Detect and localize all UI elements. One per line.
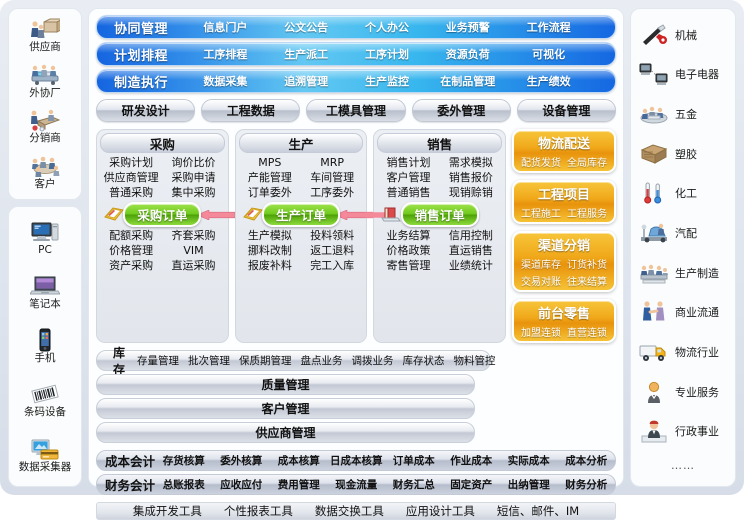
module-item[interactable]: 询价比价 [162, 155, 224, 170]
auto-parts-icon [639, 221, 669, 245]
production-order-row: 生产订单 [239, 203, 364, 225]
item-pair: 报废补料 完工入库 [239, 258, 364, 273]
accounting-bars: 成本会计 存货核算 委外核算 成本核算 日成本核算 订单成本 作业成本 实际成本… [96, 450, 616, 495]
blue-bar-cell[interactable]: 生产监控 [347, 73, 428, 89]
module-item[interactable]: 投料领料 [301, 228, 363, 243]
module-item[interactable]: 挪料改制 [239, 243, 301, 258]
gray-bar-supplier-management[interactable]: 供应商管理 [96, 422, 475, 443]
blue-bar-title: 制造执行 [97, 72, 185, 91]
core-columns: 采购 采购计划 询价比价 供应商管理 采购申请 普通采购 集中采购 [96, 129, 506, 343]
blue-bar-cell[interactable]: 资源负荷 [427, 46, 508, 62]
badge-purchase-order[interactable]: 采购订单 [123, 202, 201, 227]
item-pair: 订单委外 工序委外 [239, 185, 364, 200]
item-pair: 普通销售 现销赊销 [377, 185, 502, 200]
module-item[interactable]: 业务结算 [377, 228, 439, 243]
industry-label: 商业流通 [675, 304, 719, 320]
panel-subitems: 加盟连锁 直营连锁 [521, 324, 607, 339]
blue-bar-cell[interactable]: 在制品管理 [427, 73, 508, 89]
industry-item-manufacturing[interactable]: 生产制造 [635, 261, 731, 285]
panel-logistics-distribution[interactable]: 物流配送 配货发货 全局库存 [512, 129, 616, 173]
tab-rd-design[interactable]: 研发设计 [96, 99, 195, 122]
sidebar-item-label: 外协厂 [29, 88, 61, 100]
industry-label: 电子电器 [675, 66, 719, 82]
item-pair: 供应商管理 采购申请 [100, 170, 225, 185]
panel-title: 物流配送 [538, 133, 590, 152]
book-icon [381, 206, 401, 222]
item-pair: 寄售管理 业绩统计 [377, 258, 502, 273]
panel-front-retail[interactable]: 前台零售 加盟连锁 直营连锁 [512, 299, 616, 343]
industry-label: 行政事业 [675, 423, 719, 439]
accounting-item[interactable]: 存货核算 [155, 453, 213, 468]
tab-outsourcing-management[interactable]: 委外管理 [412, 99, 511, 122]
module-item[interactable]: 销售计划 [377, 155, 439, 170]
blue-bars-group: 协同管理 信息门户 公文公告 个人办公 业务预警 工作流程 计划排程 工序排程 … [96, 15, 616, 93]
panel-subitems: 工程施工 工程服务 [521, 205, 607, 220]
tool-item-report[interactable]: 个性报表工具 [224, 503, 293, 519]
item-pair: 挪料改制 返工退料 [239, 243, 364, 258]
sales-bottom-items: 业务结算 信用控制 价格政策 直运销售 寄售管理 业绩统计 [377, 228, 502, 273]
module-item[interactable]: 信用控制 [440, 228, 502, 243]
inventory-subitem[interactable]: 存量管理 [137, 353, 179, 368]
blue-bar-cell[interactable]: 工序排程 [185, 46, 266, 62]
industry-item-commerce[interactable]: 商业流通 [635, 300, 731, 324]
module-item[interactable]: 采购申请 [162, 170, 224, 185]
blue-bar-cell[interactable]: 可视化 [508, 46, 589, 62]
logistics-truck-icon [639, 340, 669, 364]
item-pair: 产能管理 车间管理 [239, 170, 364, 185]
sales-top-items: 销售计划 需求模拟 客户管理 销售报价 普通销售 现销赊销 [377, 155, 502, 200]
gray-bar-title: 库存 [113, 344, 125, 378]
badge-production-order[interactable]: 生产订单 [262, 202, 340, 227]
industry-label: 生产制造 [675, 265, 719, 281]
module-item[interactable]: 产能管理 [239, 170, 301, 185]
blue-bar-cell[interactable]: 业务预警 [427, 19, 508, 35]
blue-bar-cell[interactable]: 个人办公 [347, 19, 428, 35]
accounting-item[interactable]: 财务汇总 [385, 477, 443, 492]
sidebar-item-supplier[interactable]: 供应商 [29, 17, 61, 54]
sidebar-item-laptop[interactable]: 笔记本 [29, 274, 61, 311]
module-item[interactable]: 客户管理 [377, 170, 439, 185]
panel-subitem[interactable]: 渠道库存 [521, 256, 561, 271]
industry-item-hardware[interactable]: 五金 [635, 102, 731, 126]
production-top-items: MPS MRP 产能管理 车间管理 订单委外 工序委外 [239, 155, 364, 200]
sidebar-item-outsourcing-factory[interactable]: 外协厂 [29, 63, 61, 100]
inventory-subitem[interactable]: 批次管理 [188, 353, 230, 368]
production-bottom-items: 生产模拟 投料领料 挪料改制 返工退料 报废补料 完工入库 [239, 228, 364, 273]
module-item[interactable]: 工序委外 [301, 185, 363, 200]
main-diagram-panel: 协同管理 信息门户 公文公告 个人办公 业务预警 工作流程 计划排程 工序排程 … [88, 8, 624, 487]
column-title: 采购 [100, 133, 225, 153]
sidebar-item-label: 数据采集器 [19, 462, 72, 474]
accounting-bar-title: 成本会计 [105, 451, 155, 470]
gray-bar-inventory[interactable]: 库存 存量管理 批次管理 保质期管理 盘点业务 调拨业务 库存状态 物料管控 [96, 350, 491, 371]
barcode-scanner-icon [30, 382, 60, 406]
industry-item-machinery[interactable]: 机械 [635, 23, 731, 47]
industry-label: 专业服务 [675, 384, 719, 400]
accounting-cells: 总账报表 应收应付 费用管理 现金流量 财务汇总 固定资产 出纳管理 财务分析 [155, 477, 615, 492]
column-title: 销售 [377, 133, 502, 153]
inventory-subitems: 存量管理 批次管理 保质期管理 盘点业务 调拨业务 库存状态 物料管控 [137, 353, 496, 368]
industry-item-plastics[interactable]: 塑胶 [635, 142, 731, 166]
module-item[interactable]: 销售报价 [440, 170, 502, 185]
outsourcing-factory-icon [30, 63, 60, 87]
blue-bar-collaboration[interactable]: 协同管理 信息门户 公文公告 个人办公 业务预警 工作流程 [96, 15, 616, 39]
blue-bar-cell[interactable]: 数据采集 [185, 73, 266, 89]
industry-item-electronics[interactable]: 电子电器 [635, 62, 731, 86]
sidebar-item-data-collector[interactable]: 数据采集器 [19, 437, 72, 474]
orange-modules-rail: 物流配送 配货发货 全局库存 工程项目 工程施工 工程服务 渠道分销 [512, 129, 616, 343]
industry-label: 五金 [675, 106, 697, 122]
government-icon [639, 419, 669, 443]
module-item[interactable]: 普通采购 [100, 185, 162, 200]
sidebar-item-barcode-device[interactable]: 条码设备 [24, 382, 66, 419]
plastics-icon [639, 142, 669, 166]
blue-bar-cell[interactable]: 工作流程 [508, 19, 589, 35]
item-pair: 生产模拟 投料领料 [239, 228, 364, 243]
commerce-icon [639, 300, 669, 324]
industry-item-professional-service[interactable]: 专业服务 [635, 380, 731, 404]
tool-item-data-exchange[interactable]: 数据交换工具 [315, 503, 384, 519]
item-pair: MPS MRP [239, 155, 364, 170]
industry-item-chemical[interactable]: 化工 [635, 181, 731, 205]
sidebar-item-label: 分销商 [29, 133, 61, 145]
module-item[interactable]: 报废补料 [239, 258, 301, 273]
blue-bar-title: 协同管理 [97, 18, 185, 37]
accounting-item[interactable]: 日成本核算 [328, 453, 386, 468]
blue-bar-cells: 信息门户 公文公告 个人办公 业务预警 工作流程 [185, 19, 615, 35]
blue-bar-cells: 数据采集 追溯管理 生产监控 在制品管理 生产绩效 [185, 73, 615, 89]
blue-bar-cells: 工序排程 生产派工 工序计划 资源负荷 可视化 [185, 46, 615, 62]
blue-bar-cell[interactable]: 公文公告 [266, 19, 347, 35]
panel-title: 渠道分销 [538, 235, 590, 254]
column-purchasing: 采购 采购计划 询价比价 供应商管理 采购申请 普通采购 集中采购 [96, 129, 229, 343]
accounting-cells: 存货核算 委外核算 成本核算 日成本核算 订单成本 作业成本 实际成本 成本分析 [155, 453, 615, 468]
panel-title: 前台零售 [538, 303, 590, 322]
blue-bar-cell[interactable]: 生产绩效 [508, 73, 589, 89]
sidebar-item-label: PC [38, 245, 52, 257]
blue-bar-cell[interactable]: 信息门户 [185, 19, 266, 35]
partner-roles-group: 供应商 外协厂 [8, 8, 82, 200]
module-item[interactable]: 直运销售 [440, 243, 502, 258]
mobile-phone-icon [30, 328, 60, 352]
item-pair: 价格政策 直运销售 [377, 243, 502, 258]
gray-bar-customer-management[interactable]: 客户管理 [96, 398, 475, 419]
column-title: 生产 [239, 133, 364, 153]
tab-engineering-data[interactable]: 工程数据 [201, 99, 300, 122]
module-item[interactable]: 资产采购 [100, 258, 162, 273]
inventory-subitem[interactable]: 保质期管理 [239, 353, 292, 368]
blue-bar-cell[interactable]: 生产派工 [266, 46, 347, 62]
panel-subitem[interactable]: 直营连锁 [567, 324, 607, 339]
sidebar-item-pc[interactable]: PC [30, 220, 60, 257]
erp-architecture-diagram: 供应商 外协厂 [0, 0, 744, 495]
industry-label: 机械 [675, 27, 697, 43]
sidebar-item-distributor[interactable]: 分销商 [29, 108, 61, 145]
industry-item-logistics[interactable]: 物流行业 [635, 340, 731, 364]
accounting-item[interactable]: 费用管理 [270, 477, 328, 492]
purchasing-top-items: 采购计划 询价比价 供应商管理 采购申请 普通采购 集中采购 [100, 155, 225, 200]
accounting-bar-cost[interactable]: 成本会计 存货核算 委外核算 成本核算 日成本核算 订单成本 作业成本 实际成本… [96, 450, 616, 471]
document-icon [104, 206, 124, 222]
inventory-subitem[interactable]: 调拨业务 [352, 353, 394, 368]
data-collector-icon [30, 437, 60, 461]
tool-item-app-design[interactable]: 应用设计工具 [406, 503, 475, 519]
panel-title: 工程项目 [538, 184, 590, 203]
purchase-order-row: 采购订单 [100, 203, 225, 225]
module-tabs: 研发设计 工程数据 工模具管理 委外管理 设备管理 [96, 99, 616, 122]
laptop-icon [30, 274, 60, 298]
module-item[interactable]: 需求模拟 [440, 155, 502, 170]
blue-bar-planning[interactable]: 计划排程 工序排程 生产派工 工序计划 资源负荷 可视化 [96, 42, 616, 66]
sidebar-item-mobile-phone[interactable]: 手机 [30, 328, 60, 365]
shared-modules-bars: 库存 存量管理 批次管理 保质期管理 盘点业务 调拨业务 库存状态 物料管控 质… [96, 350, 616, 443]
accounting-item[interactable]: 实际成本 [500, 453, 558, 468]
tool-item-integration[interactable]: 集成开发工具 [133, 503, 202, 519]
developer-tools-bar: 集成开发工具 个性报表工具 数据交换工具 应用设计工具 短信、邮件、IM [96, 502, 616, 520]
manufacturing-icon [639, 261, 669, 285]
accounting-item[interactable]: 成本核算 [270, 453, 328, 468]
item-pair: 采购计划 询价比价 [100, 155, 225, 170]
sidebar-item-customer[interactable]: 客户 [30, 154, 60, 191]
module-item[interactable]: 现销赊销 [440, 185, 502, 200]
column-production: 生产 MPS MRP 产能管理 车间管理 订单委外 工序委外 [235, 129, 368, 343]
module-item[interactable]: 普通销售 [377, 185, 439, 200]
panel-subitem[interactable]: 工程服务 [567, 205, 607, 220]
purchasing-bottom-items: 配额采购 齐套采购 价格管理 VIM 资产采购 直运采购 [100, 228, 225, 273]
sidebar-item-label: 客户 [35, 179, 56, 191]
item-pair: 价格管理 VIM [100, 243, 225, 258]
tab-tooling-management[interactable]: 工模具管理 [306, 99, 405, 122]
module-item[interactable]: 价格政策 [377, 243, 439, 258]
module-item[interactable]: 返工退料 [301, 243, 363, 258]
module-item[interactable]: MPS [239, 155, 301, 170]
badge-sales-order[interactable]: 销售订单 [401, 202, 479, 227]
sidebar-item-label: 笔记本 [29, 299, 61, 311]
industries-group: 机械 电子电器 [630, 8, 736, 487]
industry-label: 塑胶 [675, 146, 697, 162]
machinery-icon [639, 23, 669, 47]
blue-bar-title: 计划排程 [97, 45, 185, 64]
module-item[interactable]: 业绩统计 [440, 258, 502, 273]
accounting-item[interactable]: 应收应付 [213, 477, 271, 492]
accounting-item[interactable]: 固定资产 [443, 477, 501, 492]
sidebar-item-label: 条码设备 [24, 407, 66, 419]
accounting-item[interactable]: 总账报表 [155, 477, 213, 492]
accounting-bar-financial[interactable]: 财务会计 总账报表 应收应付 费用管理 现金流量 财务汇总 固定资产 出纳管理 … [96, 474, 616, 495]
module-item[interactable]: 完工入库 [301, 258, 363, 273]
panel-subitem[interactable]: 工程施工 [521, 205, 561, 220]
tab-equipment-management[interactable]: 设备管理 [517, 99, 616, 122]
right-sidebar: 机械 电子电器 [630, 8, 736, 487]
module-item[interactable]: 车间管理 [301, 170, 363, 185]
accounting-item[interactable]: 作业成本 [443, 453, 501, 468]
chemical-icon [639, 181, 669, 205]
inventory-subitem[interactable]: 盘点业务 [301, 353, 343, 368]
accounting-item[interactable]: 现金流量 [328, 477, 386, 492]
industry-label: 物流行业 [675, 344, 719, 360]
module-item[interactable]: VIM [162, 243, 224, 258]
panel-subitems: 渠道库存 订货补货 交易对账 往来结算 [516, 256, 612, 288]
supplier-icon [30, 17, 60, 41]
left-sidebar: 供应商 外协厂 [8, 8, 82, 487]
module-item[interactable]: 齐套采购 [162, 228, 224, 243]
desktop-pc-icon [30, 220, 60, 244]
accounting-item[interactable]: 成本分析 [558, 453, 616, 468]
industry-item-government[interactable]: 行政事业 [635, 419, 731, 443]
industry-item-auto-parts[interactable]: 汽配 [635, 221, 731, 245]
module-item[interactable]: 集中采购 [162, 185, 224, 200]
industry-label: 化工 [675, 185, 697, 201]
sales-order-row: 销售订单 [377, 203, 502, 225]
module-item[interactable]: 配额采购 [100, 228, 162, 243]
module-item[interactable]: 采购计划 [100, 155, 162, 170]
hardware-icon [639, 102, 669, 126]
panel-channel-distribution[interactable]: 渠道分销 渠道库存 订货补货 交易对账 往来结算 [512, 231, 616, 292]
accounting-item[interactable]: 委外核算 [213, 453, 271, 468]
item-pair: 客户管理 销售报价 [377, 170, 502, 185]
blue-bar-manufacturing-execution[interactable]: 制造执行 数据采集 追溯管理 生产监控 在制品管理 生产绩效 [96, 69, 616, 93]
electronics-icon [639, 62, 669, 86]
accounting-item[interactable]: 财务分析 [558, 477, 616, 492]
sidebar-item-label: 供应商 [29, 42, 61, 54]
sidebar-item-label: 手机 [35, 353, 56, 365]
panel-subitems: 配货发货 全局库存 [521, 154, 607, 169]
module-item[interactable]: MRP [301, 155, 363, 170]
distributor-icon [30, 108, 60, 132]
item-pair: 配额采购 齐套采购 [100, 228, 225, 243]
devices-group: PC 笔记本 [8, 206, 82, 487]
accounting-bar-title: 财务会计 [105, 475, 155, 494]
module-item[interactable]: 寄售管理 [377, 258, 439, 273]
panel-subitem[interactable]: 订货补货 [567, 256, 607, 271]
tool-item-messaging[interactable]: 短信、邮件、IM [497, 503, 579, 519]
inventory-subitem[interactable]: 库存状态 [403, 353, 445, 368]
document-icon [243, 206, 263, 222]
customer-icon [30, 154, 60, 178]
accounting-item[interactable]: 订单成本 [385, 453, 443, 468]
accounting-item[interactable]: 出纳管理 [500, 477, 558, 492]
panel-subitem[interactable]: 全局库存 [567, 154, 607, 169]
module-item[interactable]: 供应商管理 [100, 170, 162, 185]
panel-subitem[interactable]: 往来结算 [567, 273, 607, 288]
industry-label: 汽配 [675, 225, 697, 241]
item-pair: 资产采购 直运采购 [100, 258, 225, 273]
panel-subitem[interactable]: 交易对账 [521, 273, 561, 288]
panel-subitem[interactable]: 配货发货 [521, 154, 561, 169]
module-item[interactable]: 价格管理 [100, 243, 162, 258]
item-pair: 普通采购 集中采购 [100, 185, 225, 200]
item-pair: 业务结算 信用控制 [377, 228, 502, 243]
blue-bar-cell[interactable]: 追溯管理 [266, 73, 347, 89]
panel-engineering-project[interactable]: 工程项目 工程施工 工程服务 [512, 180, 616, 224]
item-pair: 销售计划 需求模拟 [377, 155, 502, 170]
core-modules-zone: 采购 采购计划 询价比价 供应商管理 采购申请 普通采购 集中采购 [96, 129, 616, 343]
professional-service-icon [639, 380, 669, 404]
module-item[interactable]: 直运采购 [162, 258, 224, 273]
gray-bar-quality-management[interactable]: 质量管理 [96, 374, 475, 395]
industry-more-indicator: …… [635, 459, 731, 472]
inventory-subitem[interactable]: 物料管控 [454, 353, 496, 368]
module-item[interactable]: 订单委外 [239, 185, 301, 200]
column-sales: 销售 销售计划 需求模拟 客户管理 销售报价 普通销售 现销赊销 [373, 129, 506, 343]
panel-subitem[interactable]: 加盟连锁 [521, 324, 561, 339]
blue-bar-cell[interactable]: 工序计划 [347, 46, 428, 62]
module-item[interactable]: 生产模拟 [239, 228, 301, 243]
